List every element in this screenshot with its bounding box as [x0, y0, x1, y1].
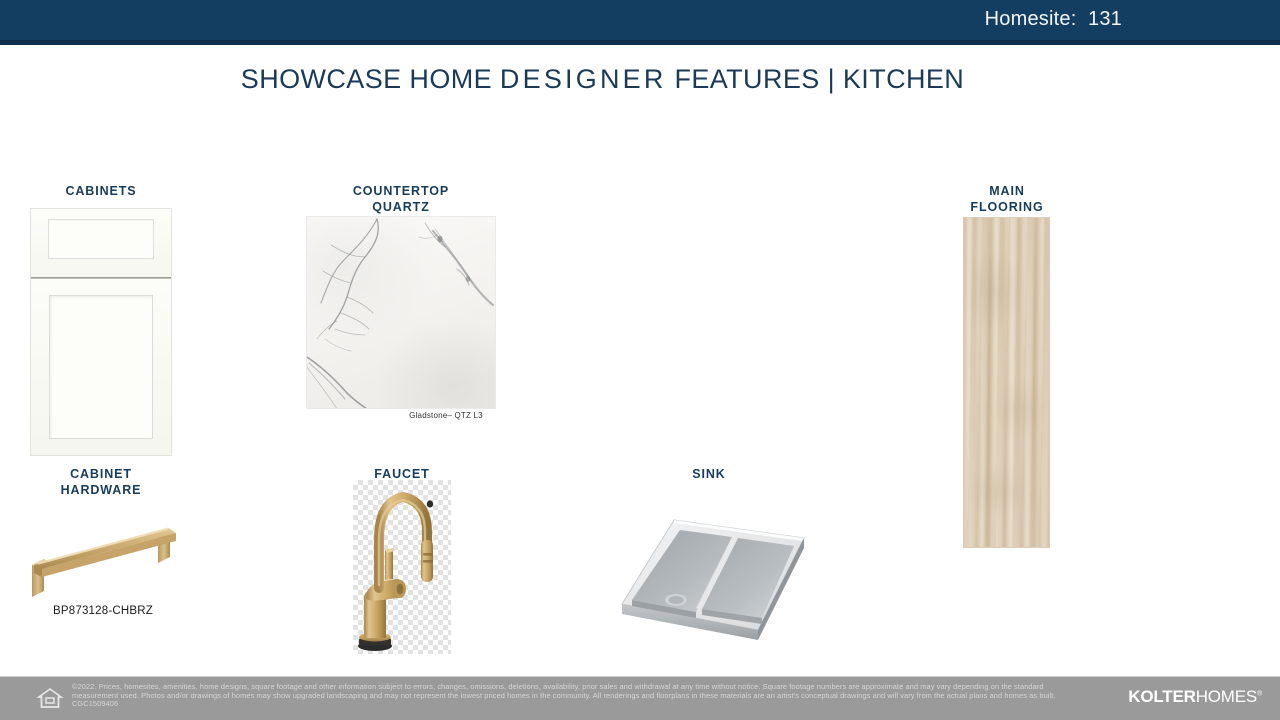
page-title-part-1: SHOWCASE HOME [241, 64, 500, 94]
page-title: SHOWCASE HOME DESIGNER FEATURES | KITCHE… [0, 64, 1205, 95]
double-bowl-sink-icon [612, 508, 812, 644]
cabinet-drawer-front [31, 209, 171, 277]
cabinet-hardware-label: CABINET HARDWARE [30, 466, 172, 498]
main-flooring-label-line1: MAIN [943, 183, 1071, 199]
sink-label: SINK [660, 466, 758, 482]
page-title-part-2: DESIGNER [500, 64, 667, 94]
cabinet-door-front [31, 279, 171, 455]
countertop-label: COUNTERTOP QUARTZ [306, 183, 496, 215]
main-flooring-label-line2: FLOORING [943, 199, 1071, 215]
countertop-label-line1: COUNTERTOP [306, 183, 496, 199]
header-accent-stripe [0, 40, 1280, 45]
countertop-caption: Gladstone– QTZ L3 [391, 411, 501, 420]
cabinet-hardware-part-number: BP873128-CHBRZ [18, 605, 188, 617]
kitchen-faucet[interactable] [353, 480, 451, 654]
kolter-homes-logo: KOLTERHOMES® [1128, 687, 1262, 707]
footer-bar: ©2022. Prices, homesites, amenities, hom… [0, 677, 1280, 720]
cabinets-label: CABINETS [30, 183, 172, 199]
cabinet-hardware-label-line1: CABINET [30, 466, 172, 482]
cabinet-door-panel [49, 295, 153, 439]
homesite-indicator: Homesite: 131 [985, 8, 1122, 31]
cabinet-door-swatch[interactable] [30, 208, 172, 456]
homesite-label: Homesite: [985, 8, 1077, 30]
page-title-part-3: FEATURES | KITCHEN [667, 64, 965, 94]
bar-pull-handle-icon [18, 515, 188, 605]
main-flooring-label: MAIN FLOORING [943, 183, 1071, 215]
logo-registered-mark: ® [1257, 690, 1262, 697]
kitchen-faucet-icon [353, 480, 451, 654]
logo-homes: HOMES [1196, 687, 1257, 706]
cabinet-drawer-panel [48, 219, 154, 259]
cabinet-hardware-label-line2: HARDWARE [30, 482, 172, 498]
legal-disclaimer: ©2022. Prices, homesites, amenities, hom… [72, 683, 1092, 709]
double-bowl-sink[interactable] [612, 508, 812, 644]
countertop-label-line2: QUARTZ [306, 199, 496, 215]
quartz-veining-icon [307, 217, 496, 409]
bar-pull-handle[interactable] [18, 515, 188, 605]
equal-housing-opportunity-icon [36, 684, 64, 712]
quartz-slab-swatch[interactable] [306, 216, 496, 409]
logo-kolter: KOLTER [1128, 687, 1195, 706]
wood-plank-swatch[interactable] [963, 217, 1050, 548]
homesite-number: 131 [1088, 8, 1122, 30]
